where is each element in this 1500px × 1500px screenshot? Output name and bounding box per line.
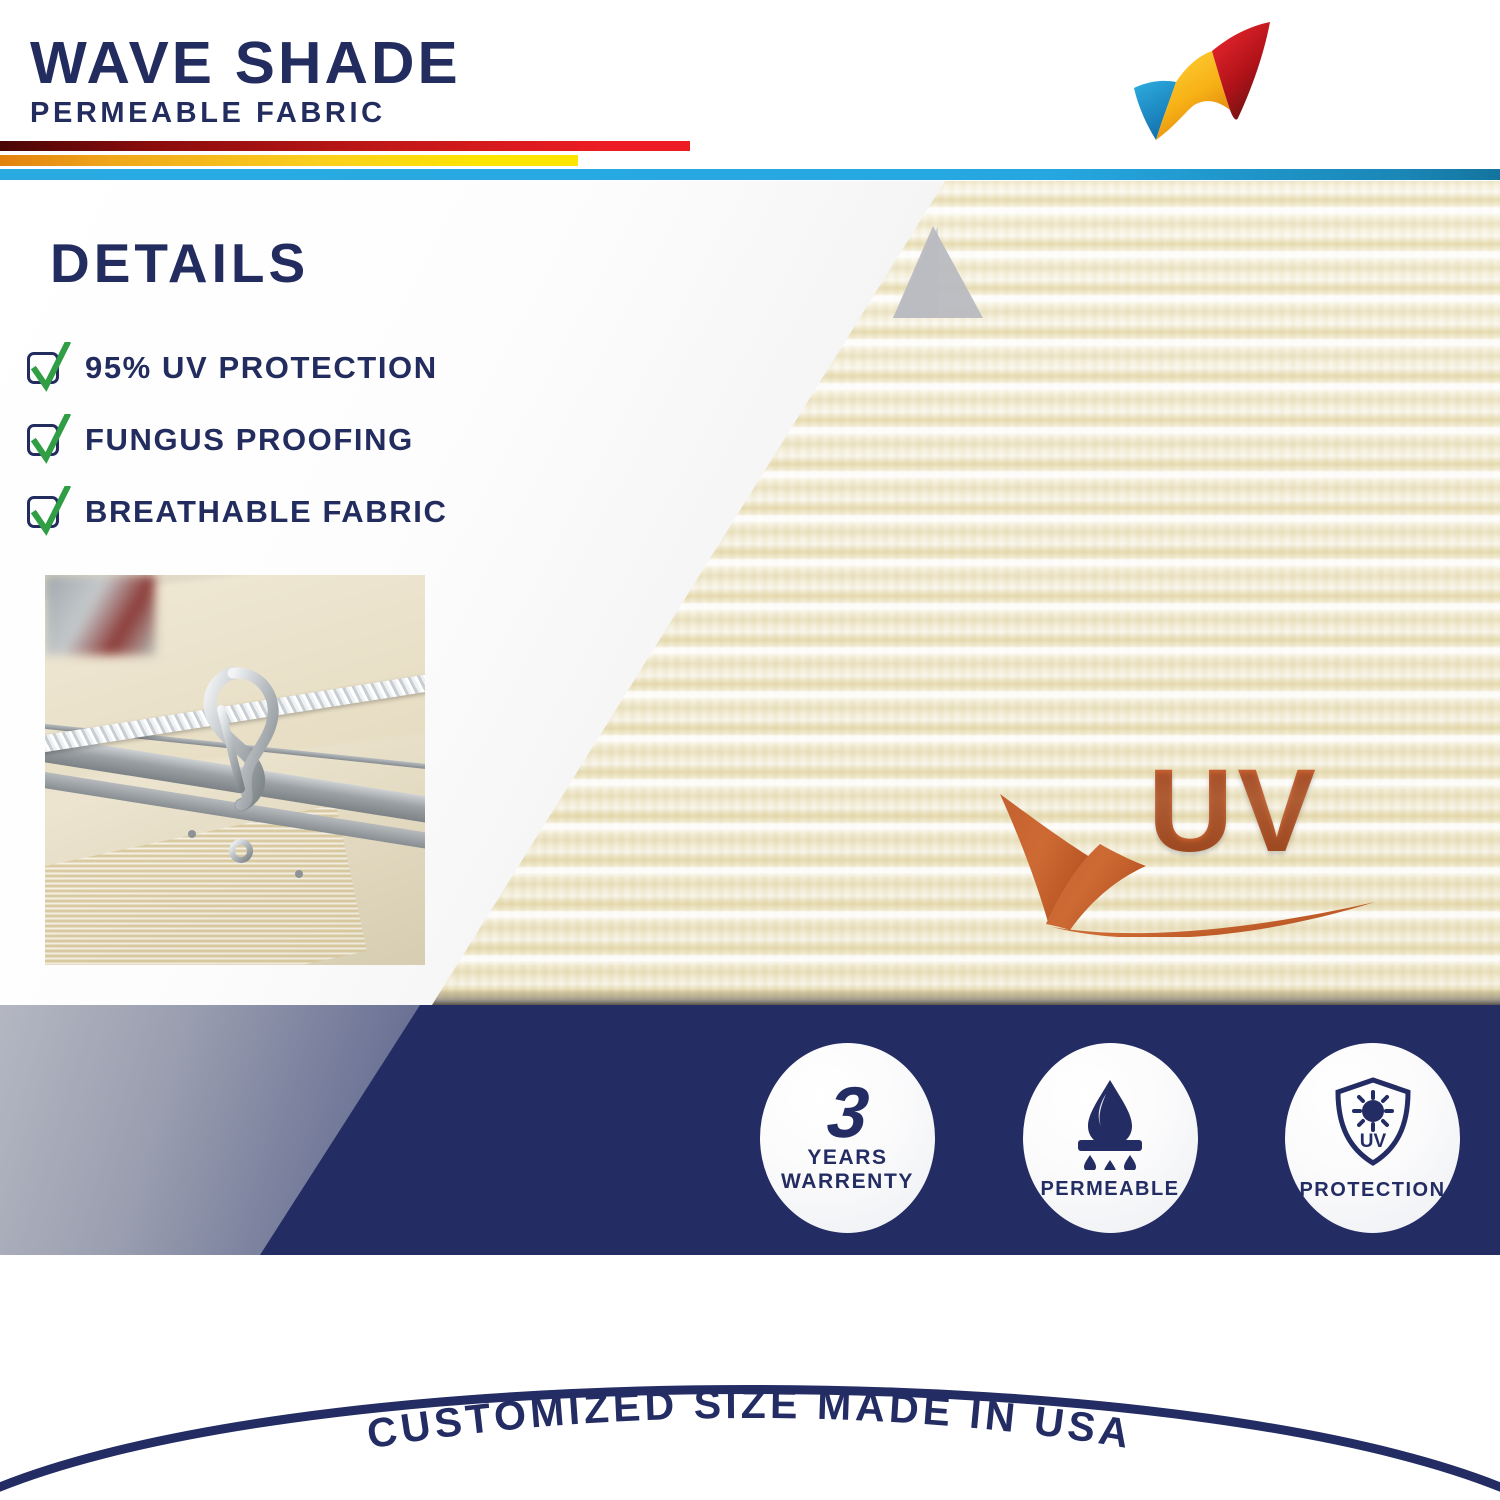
peel-corner-icon (893, 226, 983, 318)
page-subtitle: PERMEABLE FABRIC (30, 99, 452, 128)
footer-arc: CUSTOMIZED SIZE MADE IN USA (0, 1255, 1500, 1500)
check-icon (27, 492, 67, 532)
uv-deflection-graphic: UV (960, 752, 1430, 937)
detail-item-uv-protection: 95% UV PROTECTION (27, 332, 447, 404)
details-heading: DETAILS (50, 236, 309, 291)
warranty-word-label: WARRENTY (781, 1170, 914, 1195)
check-icon (27, 348, 67, 388)
accent-bar-yellow (0, 155, 578, 166)
accent-bar-red (0, 141, 690, 151)
carabiner-hook-icon (45, 575, 425, 965)
warranty-years-number: 3 (825, 1081, 871, 1146)
header: WAVE SHADE PERMEABLE FABRIC (0, 0, 1500, 180)
hardware-closeup-photo (45, 575, 425, 965)
detail-item-fungus-proofing: FUNGUS PROOFING (27, 404, 447, 476)
wave-shade-logo-icon (1100, 18, 1400, 158)
page-title: WAVE SHADE (30, 34, 461, 93)
badge-row: 3 YEARS WARRENTY PERMEABLE (760, 1043, 1460, 1233)
accent-bar-blue (0, 169, 1500, 180)
title-block: WAVE SHADE PERMEABLE FABRIC (30, 34, 452, 128)
detail-item-label: 95% UV PROTECTION (85, 350, 438, 386)
footer-arc-text: CUSTOMIZED SIZE MADE IN USA (364, 1381, 1136, 1457)
detail-item-breathable-fabric: BREATHABLE FABRIC (27, 476, 447, 548)
protection-label: PROTECTION (1299, 1179, 1445, 1202)
water-drop-icon (1068, 1076, 1152, 1170)
detail-item-label: FUNGUS PROOFING (85, 422, 414, 458)
footer: CUSTOMIZED SIZE MADE IN USA (0, 1255, 1500, 1500)
details-list: 95% UV PROTECTION FUNGUS PROOFING BREATH… (27, 332, 447, 548)
check-icon (27, 420, 67, 460)
svg-text:UV: UV (1359, 1131, 1386, 1152)
protection-badge: UV PROTECTION (1285, 1043, 1460, 1233)
warranty-badge: 3 YEARS WARRENTY (760, 1043, 935, 1233)
permeable-label: PERMEABLE (1040, 1178, 1179, 1201)
band-diagonal-gradient (0, 1005, 700, 1255)
detail-item-label: BREATHABLE FABRIC (85, 494, 447, 530)
uv-label: UV (1148, 752, 1320, 870)
uv-shield-icon: UV (1330, 1075, 1416, 1171)
product-infographic: WAVE SHADE PERMEABLE FABRIC (0, 0, 1500, 1500)
permeable-badge: PERMEABLE (1023, 1043, 1198, 1233)
